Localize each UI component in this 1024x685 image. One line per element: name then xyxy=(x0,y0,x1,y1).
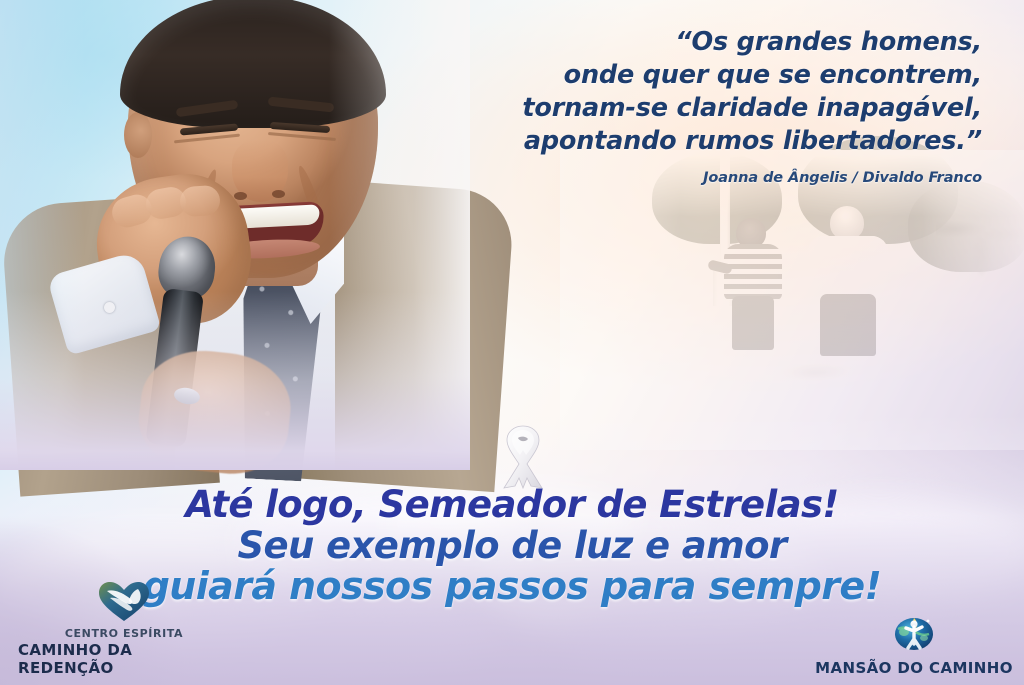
logo-left-line-1: CENTRO ESPÍRITA xyxy=(65,627,183,640)
logo-right-line-2: MANSÃO DO CAMINHO xyxy=(815,659,1013,677)
logo-mansao-do-caminho[interactable]: MANSÃO DO CAMINHO xyxy=(814,608,1014,677)
headline-line-2: Seu exemplo de luz e amor xyxy=(0,525,1024,566)
quote-line-4: apontando rumos libertadores.” xyxy=(422,125,982,158)
headline-line-1: Até logo, Semeador de Estrelas! xyxy=(0,484,1024,525)
quote-line-1: “Os grandes homens, xyxy=(422,26,982,59)
quote-line-2: onde quer que se encontrem, xyxy=(422,59,982,92)
quote-line-3: tornam-se claridade inapagável, xyxy=(422,92,982,125)
heart-hands-icon xyxy=(97,579,151,623)
quote-block: “Os grandes homens, onde quer que se enc… xyxy=(422,26,982,186)
logo-centro-espirita-caminho-da-redencao[interactable]: CENTRO ESPÍRITA CAMINHO DA REDENÇÃO xyxy=(18,579,230,677)
mourning-ribbon-icon xyxy=(488,412,558,492)
memorial-poster: “Os grandes homens, onde quer que se enc… xyxy=(0,0,1024,685)
globe-figure-icon xyxy=(891,608,937,654)
portrait-divaldo-franco xyxy=(0,0,470,470)
portrait-fade-overlay xyxy=(0,0,470,470)
quote-attribution: Joanna de Ângelis / Divaldo Franco xyxy=(422,170,982,186)
logo-left-line-2: CAMINHO DA REDENÇÃO xyxy=(18,641,230,677)
